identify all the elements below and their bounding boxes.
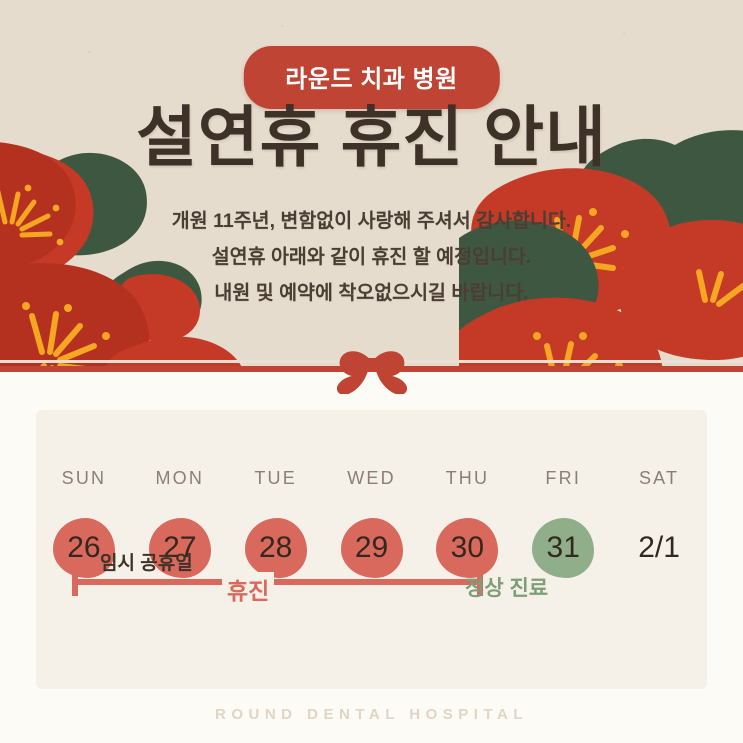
footer-brand: ROUND DENTAL HOSPITAL (0, 706, 743, 723)
bracket-cap-left (72, 568, 78, 596)
notice-body: 개원 11주년, 변함없이 사랑해 주셔서 감사합니다. 설연휴 아래와 같이 … (0, 203, 743, 311)
poster-root: 라운드 치과 병원 설연휴 휴진 안내 개원 11주년, 변함없이 사랑해 주셔… (0, 0, 743, 743)
day-header-sat: SAT (611, 468, 707, 489)
day-header-tue: TUE (228, 468, 324, 489)
day-header-wed: WED (324, 468, 420, 489)
day-header-thu: THU (419, 468, 515, 489)
notice-line-2: 설연휴 아래와 같이 휴진 할 예정입니다. (0, 239, 743, 275)
closed-label: 휴진 (222, 572, 274, 606)
notice-line-3: 내원 및 예약에 착오없으시길 바랍니다. (0, 275, 743, 311)
section-divider (0, 360, 743, 396)
notice-line-1: 개원 11주년, 변함없이 사랑해 주셔서 감사합니다. (0, 203, 743, 239)
page-title: 설연휴 휴진 안내 (0, 100, 743, 176)
calendar-section: SUN MON TUE WED THU FRI SAT 26 27 28 29 … (0, 372, 743, 743)
day-header-mon: MON (132, 468, 228, 489)
header-section: 라운드 치과 병원 설연휴 휴진 안내 개원 11주년, 변함없이 사랑해 주셔… (0, 0, 743, 372)
temp-holiday-label: 임시 공휴일 (100, 548, 193, 575)
calendar-day-headers: SUN MON TUE WED THU FRI SAT (36, 468, 707, 489)
day-header-sun: SUN (36, 468, 132, 489)
normal-hours-label: 정상 진료 (465, 572, 548, 602)
bow-ribbon-icon (326, 348, 418, 394)
bracket-line (72, 579, 483, 585)
day-header-fri: FRI (515, 468, 611, 489)
